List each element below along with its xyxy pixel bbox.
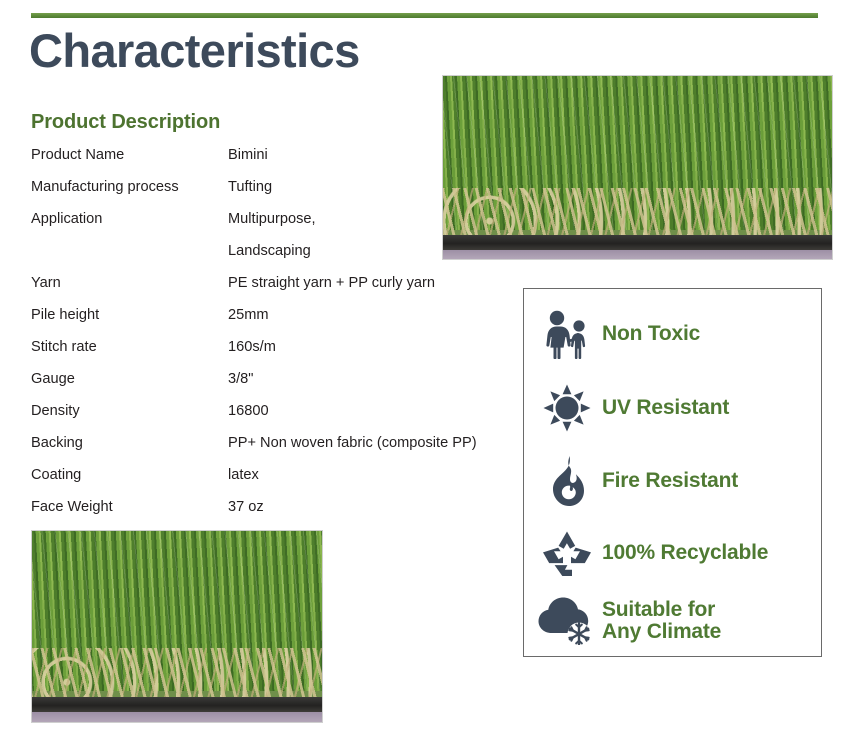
- turf-close-up-photo-bottom: [31, 530, 323, 723]
- characteristics-page: Characteristics Product Description Prod…: [0, 0, 843, 737]
- spec-label: Face Weight: [31, 499, 113, 515]
- table-row: Stitch rate 160s/m: [31, 339, 531, 371]
- spec-value: 3/8": [228, 371, 253, 387]
- cloud-snowflake-icon: [532, 597, 602, 645]
- photo-base-surface: [443, 250, 832, 259]
- table-row: Coating latex: [31, 467, 531, 499]
- feature-label: Fire Resistant: [602, 470, 738, 492]
- spec-value: Landscaping: [228, 243, 311, 259]
- spec-label: Pile height: [31, 307, 99, 323]
- spec-label: Coating: [31, 467, 81, 483]
- spec-value: Multipurpose,: [228, 211, 316, 227]
- family-adult-child-icon: [532, 309, 602, 359]
- spec-label: Stitch rate: [31, 339, 97, 355]
- spec-label: Yarn: [31, 275, 61, 291]
- feature-label: 100% Recyclable: [602, 542, 768, 564]
- spec-value: 16800: [228, 403, 269, 419]
- photo-base-surface: [32, 712, 322, 722]
- feature-item-non-toxic: Non Toxic: [524, 299, 821, 369]
- spec-label: Application: [31, 211, 102, 227]
- table-row: Yarn PE straight yarn + PP curly yarn: [31, 275, 531, 307]
- spec-label: Backing: [31, 435, 83, 451]
- recycle-icon: [532, 529, 602, 577]
- spec-label: Manufacturing process: [31, 179, 179, 195]
- feature-item-recyclable: 100% Recyclable: [524, 518, 821, 588]
- turf-side-view-photo-top: [442, 75, 833, 260]
- feature-label: UV Resistant: [602, 397, 729, 419]
- spec-label: Product Name: [31, 147, 124, 163]
- table-row: Density 16800: [31, 403, 531, 435]
- sun-icon: [532, 384, 602, 432]
- feature-label: Non Toxic: [602, 323, 700, 345]
- spec-value: Tufting: [228, 179, 272, 195]
- spec-label: Density: [31, 403, 80, 419]
- page-title: Characteristics: [29, 26, 360, 77]
- section-heading-product-description: Product Description: [31, 111, 220, 134]
- spec-label: Gauge: [31, 371, 75, 387]
- table-row: Backing PP+ Non woven fabric (composite …: [31, 435, 531, 467]
- table-row: Face Weight 37 oz: [31, 499, 531, 531]
- spec-value: 160s/m: [228, 339, 276, 355]
- spec-value: PP+ Non woven fabric (composite PP): [228, 435, 477, 451]
- feature-item-fire-resistant: Fire Resistant: [524, 446, 821, 516]
- top-accent-rule: [31, 13, 818, 18]
- spec-value: 37 oz: [228, 499, 264, 515]
- table-row: Pile height 25mm: [31, 307, 531, 339]
- spec-value: Bimini: [228, 147, 268, 163]
- feature-label: Suitable for Any Climate: [602, 599, 721, 644]
- flame-icon: [532, 456, 602, 506]
- spec-value: PE straight yarn + PP curly yarn: [228, 275, 435, 291]
- spec-value: latex: [228, 467, 259, 483]
- spec-value: 25mm: [228, 307, 269, 323]
- features-box: Non Toxic UV Resistant: [523, 288, 822, 657]
- feature-item-uv-resistant: UV Resistant: [524, 373, 821, 443]
- table-row: Gauge 3/8": [31, 371, 531, 403]
- feature-item-any-climate: Suitable for Any Climate: [524, 586, 821, 656]
